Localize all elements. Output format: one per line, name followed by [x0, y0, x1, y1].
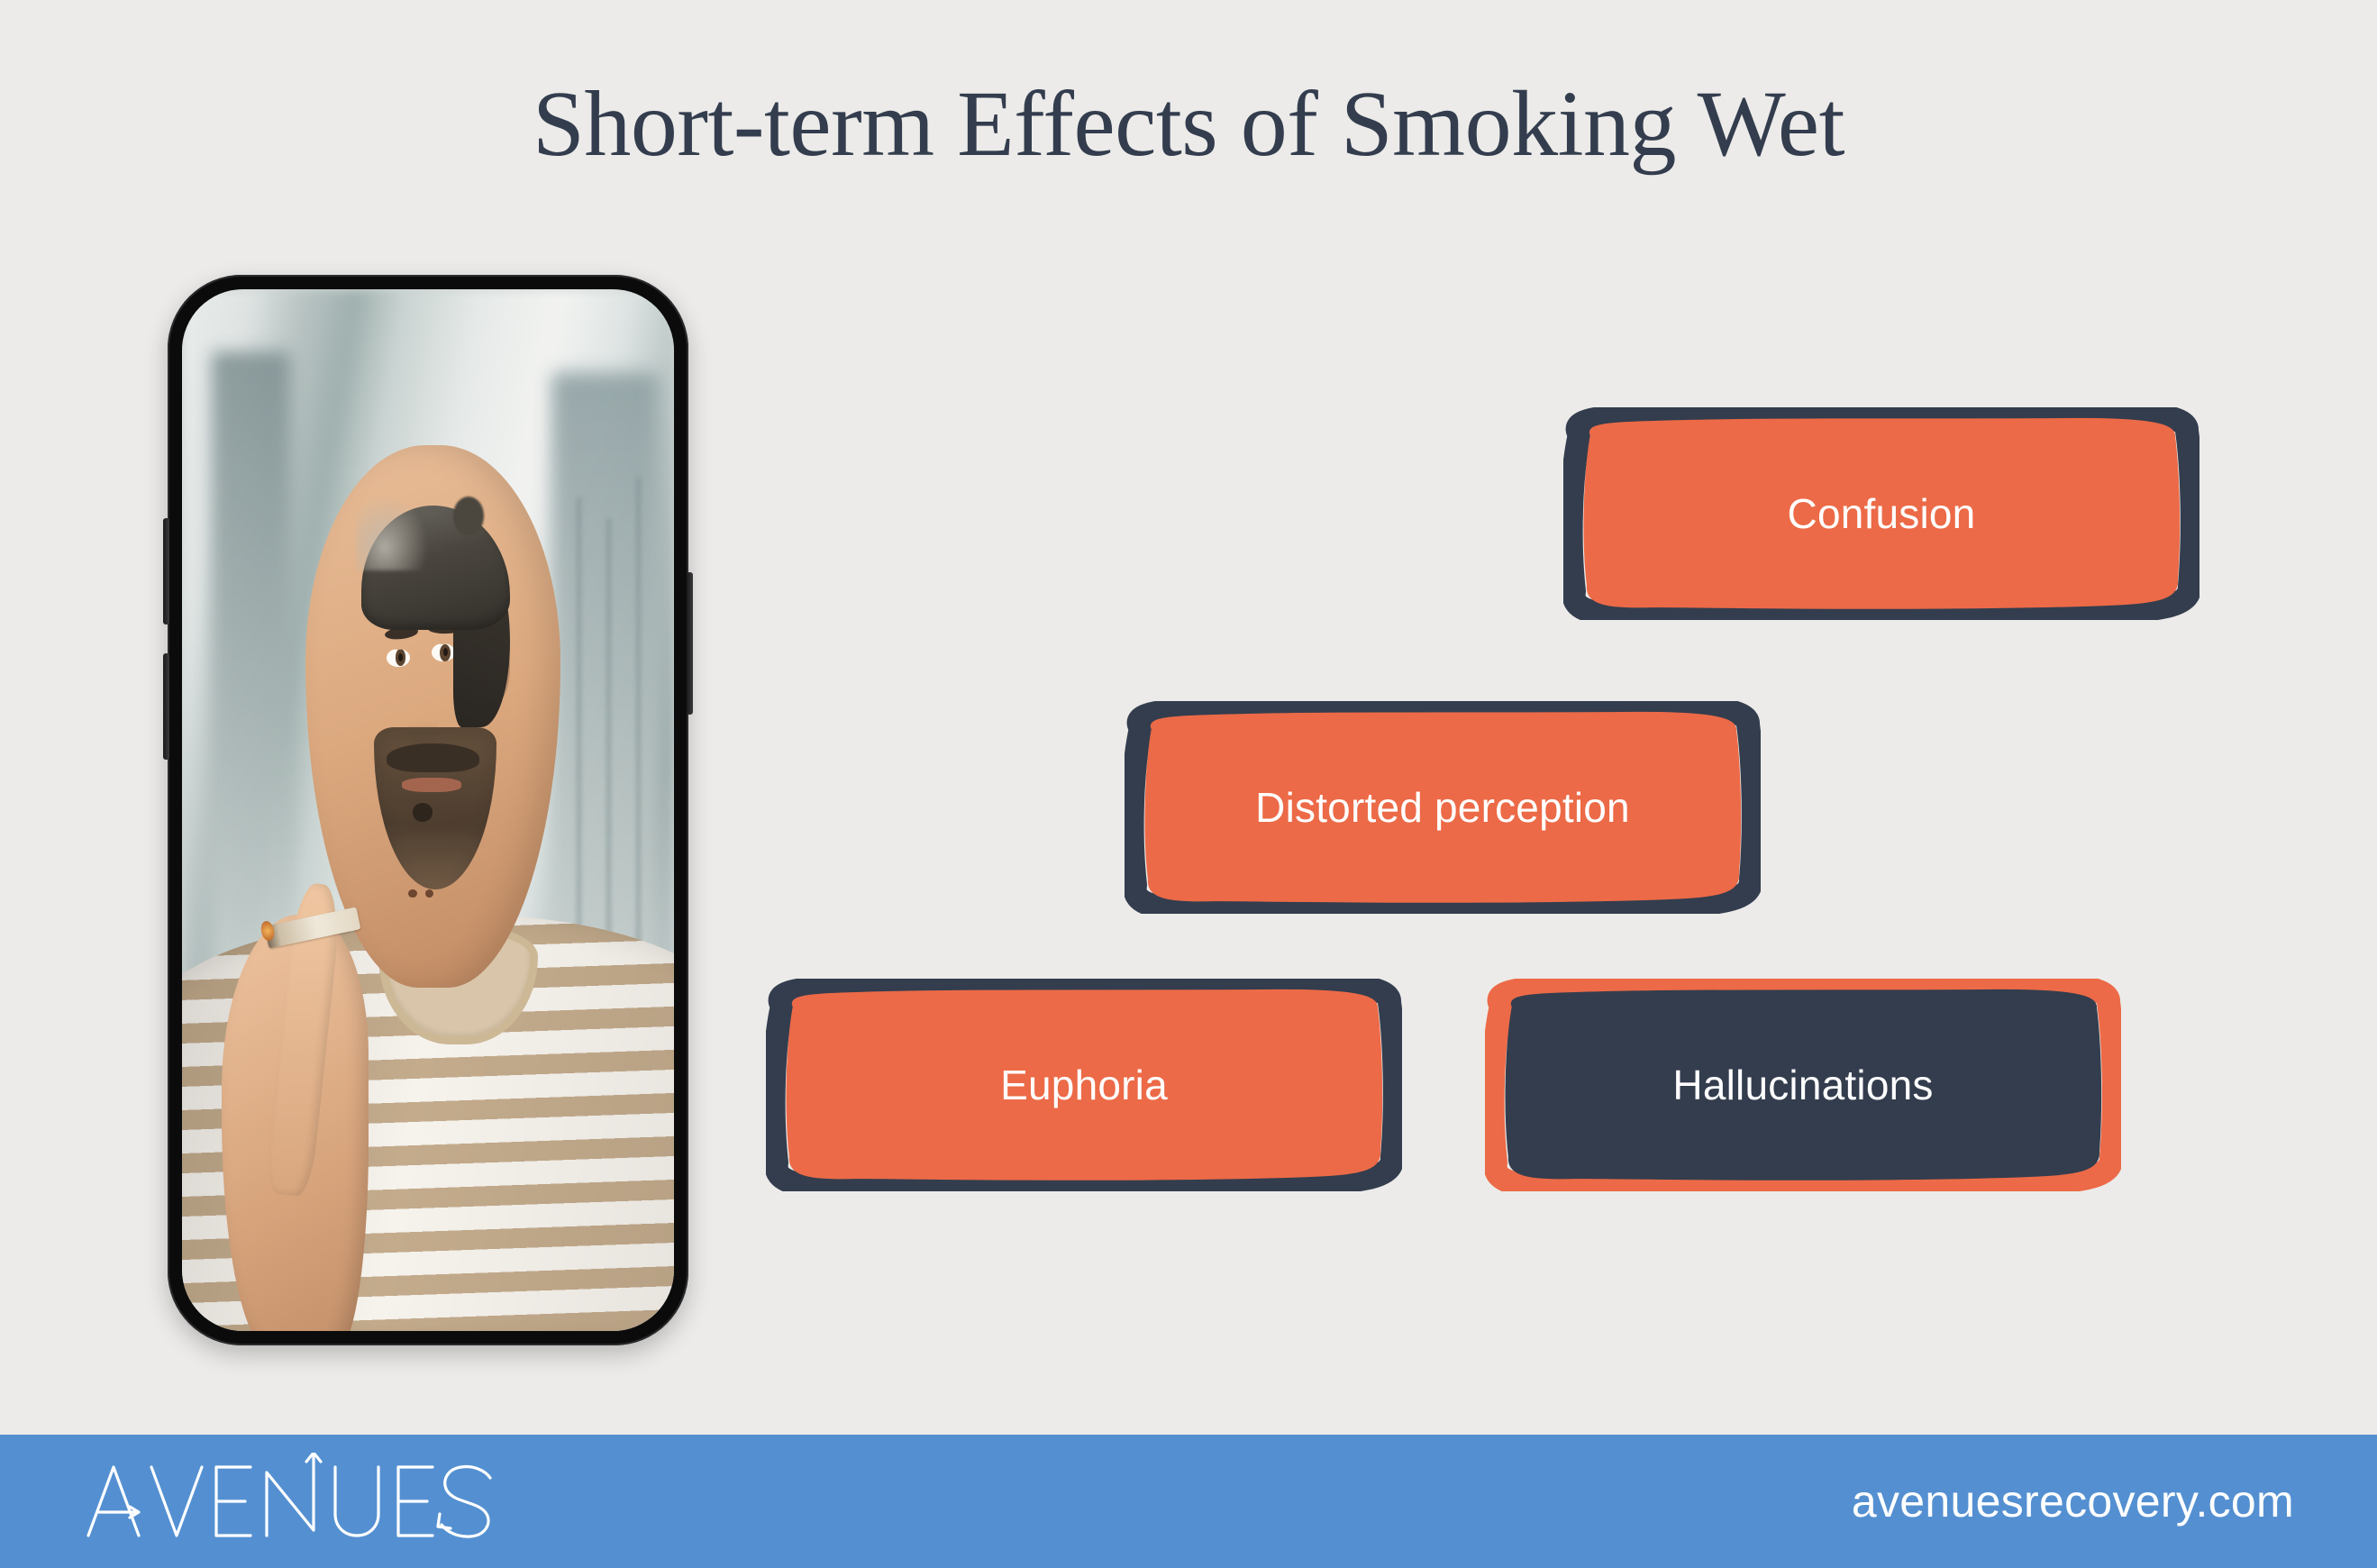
- background-window-left: [212, 351, 290, 998]
- eye-right: [432, 643, 455, 661]
- iris: [440, 644, 451, 661]
- effect-card-euphoria: Euphoria: [766, 979, 1402, 1191]
- footer-website-url[interactable]: avenuesrecovery.com: [1852, 1475, 2294, 1527]
- effect-card-label: Confusion: [1788, 489, 1976, 538]
- volume-down-button: [163, 653, 169, 760]
- eye-left: [387, 649, 410, 667]
- effect-card-label: Distorted perception: [1255, 783, 1630, 832]
- photo-man-smoking: [182, 289, 674, 1331]
- eyelid: [387, 649, 410, 650]
- effect-card-hallucinations: Hallucinations: [1485, 979, 2121, 1191]
- soul-patch: [413, 803, 433, 821]
- page-title: Short-term Effects of Smoking Wet: [0, 70, 2377, 178]
- volume-up-button: [163, 518, 169, 624]
- hair-bun: [453, 497, 484, 534]
- power-button: [687, 572, 693, 715]
- effect-card-label: Euphoria: [1000, 1061, 1168, 1109]
- effect-card-distorted-perception: Distorted perception: [1125, 701, 1761, 914]
- footer-bar: avenuesrecovery.com: [0, 1435, 2377, 1568]
- effect-card-label: Hallucinations: [1672, 1061, 1933, 1109]
- phone-screen: [182, 289, 674, 1331]
- lips: [402, 778, 460, 792]
- hair-wisps: [356, 494, 427, 570]
- mustache: [387, 743, 478, 772]
- nostril: [425, 889, 433, 898]
- iris: [396, 649, 406, 666]
- avenues-logo[interactable]: [83, 1453, 506, 1551]
- nostril: [408, 889, 416, 898]
- phone-mockup: [168, 275, 688, 1345]
- head: [305, 445, 561, 987]
- effect-card-confusion: Confusion: [1563, 407, 2199, 620]
